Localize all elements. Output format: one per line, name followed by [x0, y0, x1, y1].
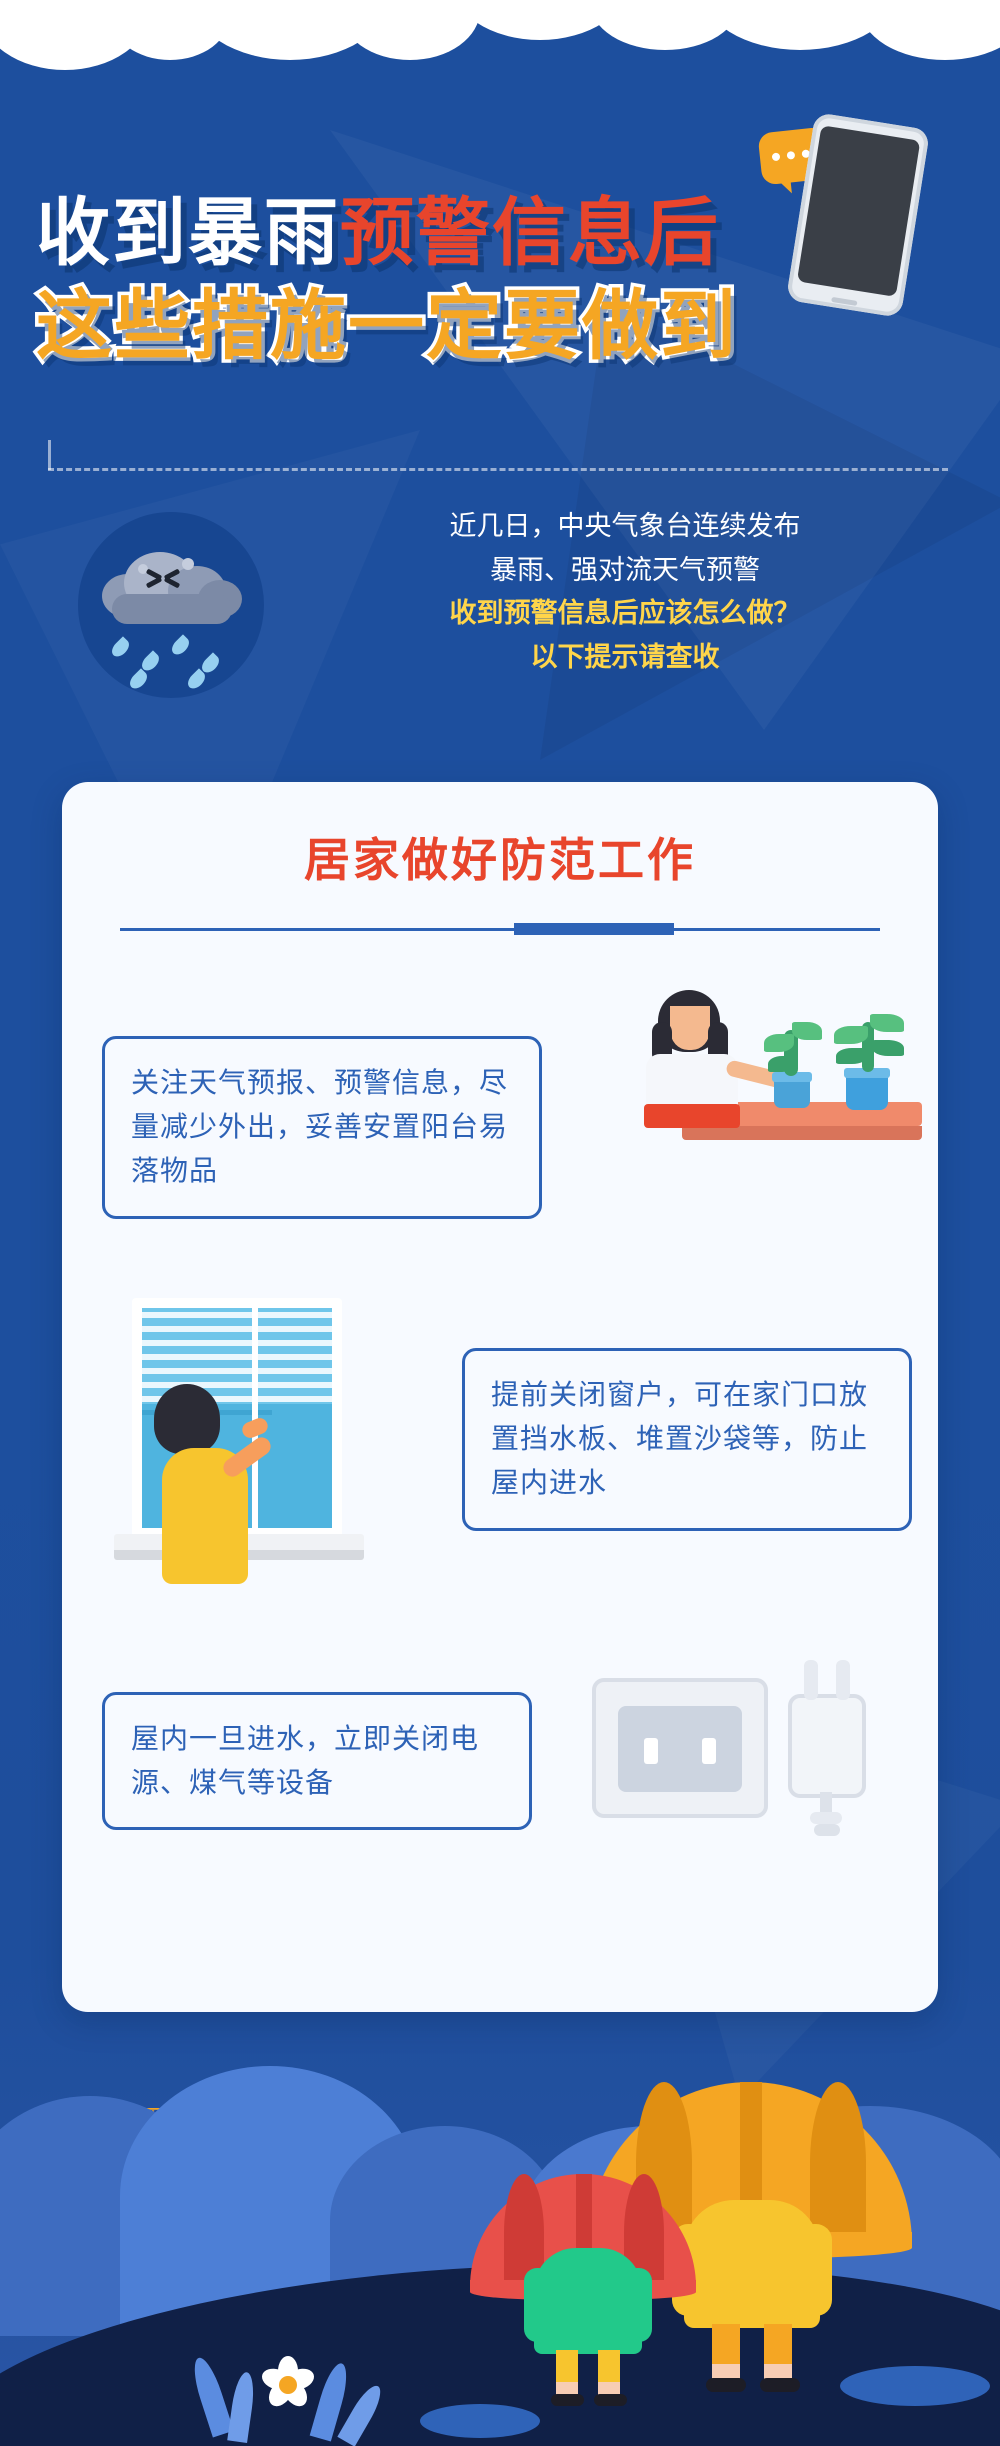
dashed-divider: [48, 468, 948, 471]
page-title: 收到暴雨预警信息后 这些措施一定要做到: [36, 195, 866, 366]
power-socket-plug-illustration: [582, 1642, 912, 1842]
title-line2: 这些措施一定要做到: [36, 284, 738, 369]
card-divider: [120, 928, 880, 931]
intro-line-highlight: 收到预警信息后应该怎么做？: [330, 592, 920, 636]
advice-card: 居家做好防范工作: [62, 782, 938, 2012]
tip-text-box: 提前关闭窗户，可在家门口放置挡水板、堆置沙袋等，防止屋内进水: [462, 1348, 912, 1531]
intro-line: 近几日，中央气象台连续发布: [330, 505, 920, 549]
title-line1-red: 预警信息后: [340, 191, 720, 274]
person-green-raincoat: [524, 2244, 652, 2410]
bottom-illustration: [0, 2016, 1000, 2446]
infographic-poster: 收到暴雨预警信息后 这些措施一定要做到 近几日，中央气象台连续发布: [0, 0, 1000, 2446]
card-title: 居家做好防范工作: [62, 824, 938, 890]
intro-paragraph: 近几日，中央气象台连续发布 暴雨、强对流天气预警 收到预警信息后应该怎么做？ 以…: [330, 505, 920, 680]
card-divider-accent: [514, 923, 674, 935]
divider-hook: [48, 440, 51, 470]
woman-watering-plants-illustration: [622, 982, 922, 1182]
person-yellow-raincoat: [672, 2194, 832, 2394]
cloud-band: [0, 0, 1000, 80]
rain-cloud-icon: [78, 512, 264, 698]
intro-line-highlight: 以下提示请查收: [330, 636, 920, 680]
tip-text-box: 屋内一旦进水，立即关闭电源、煤气等设备: [102, 1692, 532, 1830]
tip-text-box: 关注天气预报、预警信息，尽量减少外出，妥善安置阳台易落物品: [102, 1036, 542, 1219]
intro-line: 暴雨、强对流天气预警: [330, 549, 920, 593]
woman-closing-window-illustration: [92, 1298, 412, 1598]
daisy-flower-icon: [255, 2352, 321, 2418]
title-line1-white: 收到暴雨: [36, 191, 340, 274]
